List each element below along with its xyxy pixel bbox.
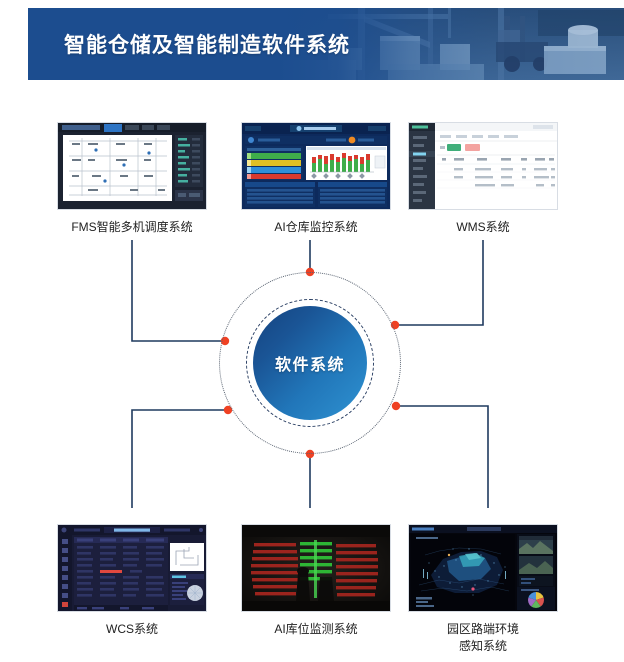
node-label-wms: WMS系统 [408,219,558,236]
node-label-ai-warehouse: AI仓库监控系统 [241,219,391,236]
node-label-fms: FMS智能多机调度系统 [57,219,207,236]
thumbnail-ai-slot-detection [241,524,391,612]
thumbnail-wms-admin-table [408,122,558,210]
hub-label: 软件系统 [275,351,345,375]
node-fms[interactable]: FMS智能多机调度系统 [57,122,207,236]
page-title: 智能仓储及智能制造软件系统 [64,8,350,80]
thumbnail-wcs-dark-dashboard [57,524,207,612]
node-ai-warehouse[interactable]: AI仓库监控系统 [241,122,391,236]
hub-core-circle: 软件系统 [253,306,367,420]
node-wcs[interactable]: WCS系统 [57,524,207,638]
node-label-ai-slot: AI库位监测系统 [241,621,391,638]
center-hub: 软件系统 [219,272,401,454]
node-wms[interactable]: WMS系统 [408,122,558,236]
header-banner: 智能仓储及智能制造软件系统 [28,8,624,80]
node-ai-slot[interactable]: AI库位监测系统 [241,524,391,638]
node-label-wcs: WCS系统 [57,621,207,638]
thumbnail-fms-scheduling-ui [57,122,207,210]
node-label-road-env: 园区路端环境 感知系统 [408,621,558,655]
thumbnail-lidar-point-cloud [408,524,558,612]
node-road-env[interactable]: 园区路端环境 感知系统 [408,524,558,655]
thumbnail-ai-warehouse-dashboard [241,122,391,210]
